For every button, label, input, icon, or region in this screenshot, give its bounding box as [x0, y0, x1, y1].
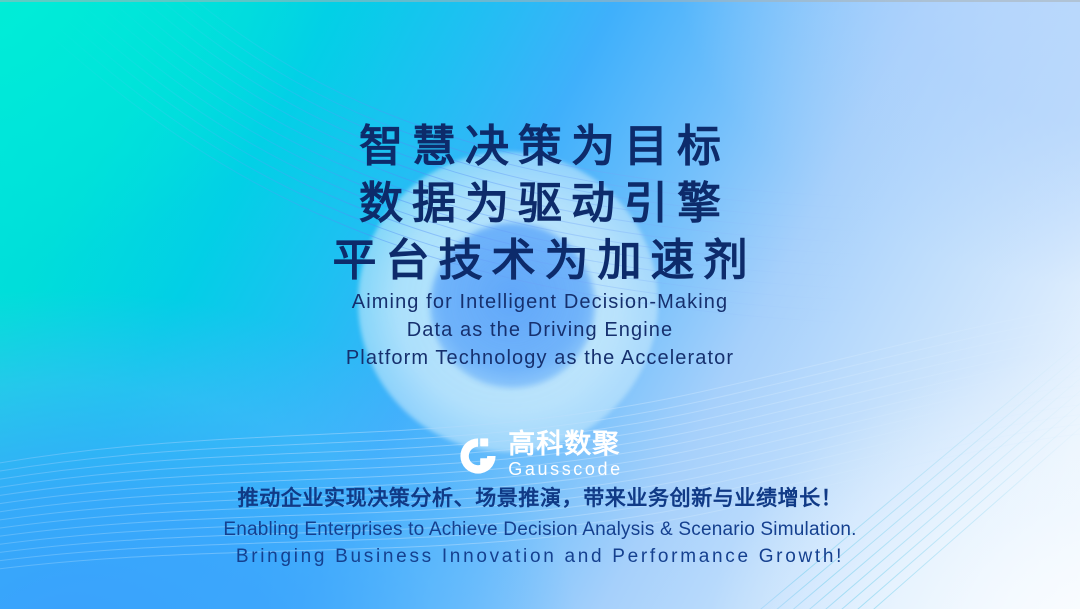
footer-tagline-en-line-2: Bringing Business Innovation and Perform… — [0, 543, 1080, 570]
footer-tagline-en-line-1: Enabling Enterprises to Achieve Decision… — [0, 516, 1080, 543]
headline-line-3: 平台技术为加速剂 — [0, 232, 1080, 289]
headline-line-2: 数据为驱动引擎 — [0, 175, 1080, 232]
subheadline-line-1: Aiming for Intelligent Decision-Making — [0, 288, 1080, 316]
gausscode-g-icon — [457, 435, 499, 477]
brand-logo: 高科数聚 Gausscode — [0, 430, 1080, 479]
brand-name-en: Gausscode — [508, 459, 622, 479]
poster-canvas: 智慧决策为目标 数据为驱动引擎 平台技术为加速剂 Aiming for Inte… — [0, 0, 1080, 609]
brand-name-cn: 高科数聚 — [508, 430, 622, 458]
headline-line-1: 智慧决策为目标 — [0, 118, 1080, 175]
subheadline: Aiming for Intelligent Decision-Making D… — [0, 288, 1080, 372]
brand-logo-text: 高科数聚 Gausscode — [508, 430, 622, 479]
headline: 智慧决策为目标 数据为驱动引擎 平台技术为加速剂 — [0, 118, 1080, 289]
subheadline-line-3: Platform Technology as the Accelerator — [0, 344, 1080, 372]
footer-tagline-cn: 推动企业实现决策分析、场景推演，带来业务创新与业绩增长！ — [0, 484, 1080, 514]
footer-tagline: 推动企业实现决策分析、场景推演，带来业务创新与业绩增长！ Enabling En… — [0, 484, 1080, 570]
subheadline-line-2: Data as the Driving Engine — [0, 316, 1080, 344]
top-edge-hairline — [0, 0, 1080, 2]
